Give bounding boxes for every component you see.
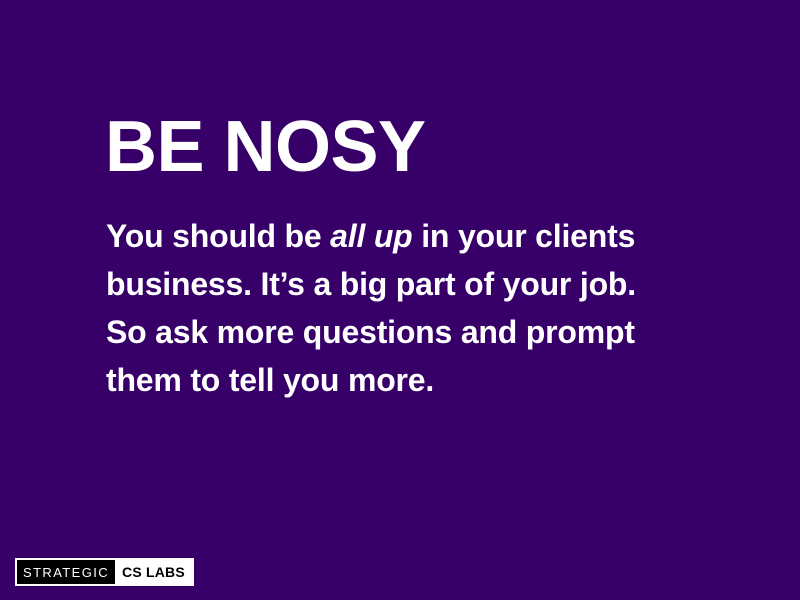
logo-mark-text: STRATEGIC bbox=[17, 560, 115, 584]
body-text-emphasis: all up bbox=[330, 218, 412, 254]
body-text-part-1: You should be bbox=[106, 218, 330, 254]
slide-canvas: BE NOSY You should be all up in your cli… bbox=[0, 0, 800, 600]
body-paragraph: You should be all up in your clients bus… bbox=[106, 212, 666, 404]
logo-name-text: CS LABS bbox=[115, 560, 192, 584]
page-title: BE NOSY bbox=[105, 108, 426, 186]
brand-logo: STRATEGIC CS LABS bbox=[15, 558, 194, 586]
